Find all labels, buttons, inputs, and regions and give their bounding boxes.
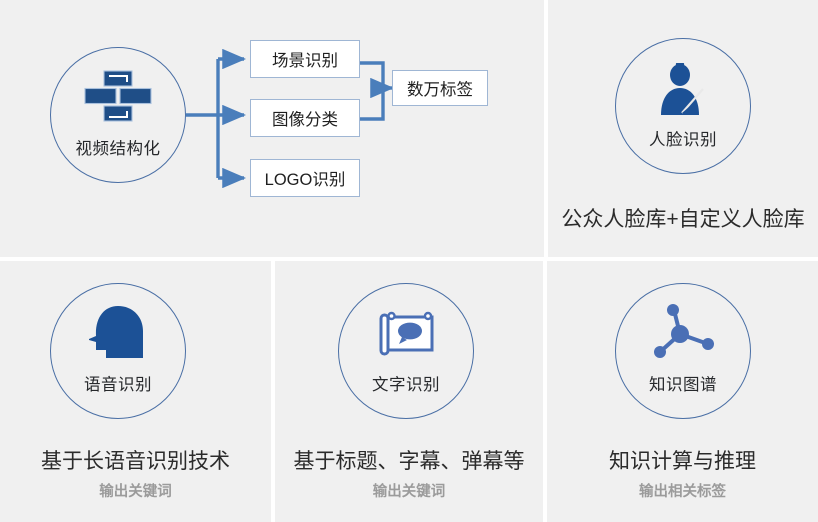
flow-box-image-classification[interactable]: 图像分类 (250, 99, 360, 137)
flow-box-logo-recognition[interactable]: LOGO识别 (250, 159, 360, 197)
circle-label-knowledge-graph: 知识图谱 (616, 371, 750, 395)
caption-speech-recognition-main: 基于长语音识别技术 (0, 445, 271, 475)
face-recognition-icon (655, 63, 711, 122)
panel-video-structuring: 视频结构化 场景识别 图像分类 LOGO识别 数万标签 (0, 0, 544, 257)
panel-knowledge-graph: 知识图谱 知识计算与推理 输出相关标签 (547, 261, 818, 522)
face-recognition-icon-svg (655, 63, 711, 117)
flow-box-image-classification-label: 图像分类 (272, 106, 338, 130)
flow-box-tens-of-thousands-tags-label: 数万标签 (407, 76, 473, 100)
speech-head-icon (89, 306, 147, 363)
circle-video-structuring: 视频结构化 (50, 47, 186, 183)
flow-box-scene-recognition[interactable]: 场景识别 (250, 40, 360, 78)
circle-label-text-recognition: 文字识别 (339, 371, 473, 395)
caption-face-recognition: 公众人脸库+自定义人脸库 (548, 203, 818, 233)
circle-label-video-structuring: 视频结构化 (51, 135, 185, 159)
flow-box-logo-recognition-label: LOGO识别 (265, 166, 346, 190)
caption-text-recognition-sub: 输出关键词 (275, 480, 543, 501)
circle-label-speech-recognition: 语音识别 (51, 371, 185, 395)
capability-diagram: 视频结构化 场景识别 图像分类 LOGO识别 数万标签 (0, 0, 818, 522)
panel-speech-recognition: 语音识别 基于长语音识别技术 输出关键词 (0, 261, 271, 522)
banner-speech-bubble-icon (378, 310, 434, 363)
flow-box-tens-of-thousands-tags[interactable]: 数万标签 (392, 70, 488, 106)
circle-speech-recognition: 语音识别 (50, 283, 186, 419)
panel-text-recognition: 文字识别 基于标题、字幕、弹幕等 输出关键词 (275, 261, 543, 522)
banner-speech-bubble-icon-svg (378, 310, 434, 358)
knowledge-graph-icon (652, 304, 714, 365)
video-structuring-icon-svg (84, 70, 152, 122)
caption-speech-recognition-sub: 输出关键词 (0, 480, 271, 501)
circle-text-recognition: 文字识别 (338, 283, 474, 419)
caption-knowledge-graph-main: 知识计算与推理 (547, 445, 818, 475)
circle-face-recognition: 人脸识别 (615, 38, 751, 174)
flow-box-scene-recognition-label: 场景识别 (272, 47, 338, 71)
caption-text-recognition-main: 基于标题、字幕、弹幕等 (275, 445, 543, 475)
speech-head-icon-svg (89, 306, 147, 358)
knowledge-graph-icon-svg (652, 304, 714, 360)
circle-knowledge-graph: 知识图谱 (615, 283, 751, 419)
panel-face-recognition: 人脸识别 公众人脸库+自定义人脸库 (548, 0, 818, 257)
caption-knowledge-graph-sub: 输出相关标签 (547, 480, 818, 501)
circle-label-face-recognition: 人脸识别 (616, 126, 750, 150)
video-structuring-icon (84, 70, 152, 127)
